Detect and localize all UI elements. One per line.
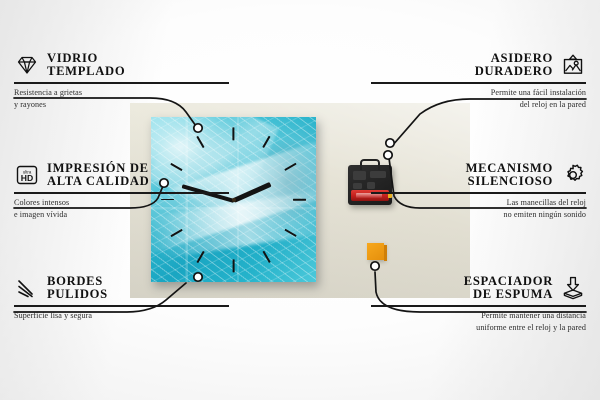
feature-title-line2: SILENCIOSO [468,175,553,188]
feature-rule [371,82,586,84]
wire-node-asidero [386,139,394,147]
feature-rule [14,305,229,307]
feature-rule [371,305,586,307]
feature-description: Superficie lisa y segura [14,310,229,321]
feature-desc-line2: y rayones [14,99,229,110]
ultra-hd-icon-bottom: HD [21,174,33,184]
feature-desc-line1: Las manecillas del reloj [371,197,586,208]
feature-desc-line2: no emiten ningún sonido [371,209,586,220]
feature-desc-line1: Colores intensos [14,197,229,208]
feature-description: Colores intensos e imagen vívida [14,197,229,220]
feature-description: Permite una fácil instalación del reloj … [371,87,586,110]
ultra-hd-icon: ultra HD [14,162,40,188]
feature-desc-line1: Resistencia a grietas [14,87,229,98]
feature-vidrio-templado: VIDRIO TEMPLADO Resistencia a grietas y … [14,52,229,110]
feature-mecanismo-silencioso: MECANISMO SILENCIOSO Las manecillas del … [371,162,586,220]
feature-title-line1: IMPRESIÓN DE [47,162,149,175]
feature-asidero-duradero: ASIDERO DURADERO Permite una fácil insta… [371,52,586,110]
feature-title-line1: MECANISMO [466,162,553,175]
hanging-frame-icon [560,52,586,78]
feature-title-line2: DE ESPUMA [473,288,553,301]
wire-node-espaciador [371,262,379,270]
feature-rule [371,192,586,194]
feature-description: Permite mantener una distancia uniforme … [371,310,586,333]
feature-rule [14,82,229,84]
foam-spacer-icon [560,275,586,301]
infographic-canvas: VIDRIO TEMPLADO Resistencia a grietas y … [0,0,600,400]
feature-title-line1: ESPACIADOR [464,275,553,288]
feature-title-line1: BORDES [47,275,103,288]
feature-desc-line2: uniforme entre el reloj y la pared [371,322,586,333]
feature-desc-line1: Permite una fácil instalación [371,87,586,98]
polished-edges-icon [14,275,40,301]
feature-description: Las manecillas del reloj no emiten ningú… [371,197,586,220]
feature-description: Resistencia a grietas y rayones [14,87,229,110]
feature-bordes-pulidos: BORDES PULIDOS Superficie lisa y segura [14,275,229,322]
feature-title-line2: TEMPLADO [47,65,125,78]
feature-title-line2: ALTA CALIDAD [47,175,149,188]
gear-icon [560,162,586,188]
feature-espaciador-de-espuma: ESPACIADOR DE ESPUMA Permite mantener un… [371,275,586,333]
feature-title-line2: DURADERO [475,65,553,78]
feature-title-line1: ASIDERO [491,52,553,65]
feature-desc-line1: Permite mantener una distancia [371,310,586,321]
feature-desc-line1: Superficie lisa y segura [14,310,229,321]
feature-desc-line2: e imagen vívida [14,209,229,220]
diamond-icon [14,52,40,78]
feature-impresion-alta-calidad: ultra HD IMPRESIÓN DE ALTA CALIDAD Color… [14,162,229,220]
feature-title-line1: VIDRIO [47,52,98,65]
feature-title-line2: PULIDOS [47,288,108,301]
feature-desc-line2: del reloj en la pared [371,99,586,110]
wire-node-mecanismo [384,151,392,159]
wire-node-vidrio [194,124,202,132]
feature-rule [14,192,229,194]
